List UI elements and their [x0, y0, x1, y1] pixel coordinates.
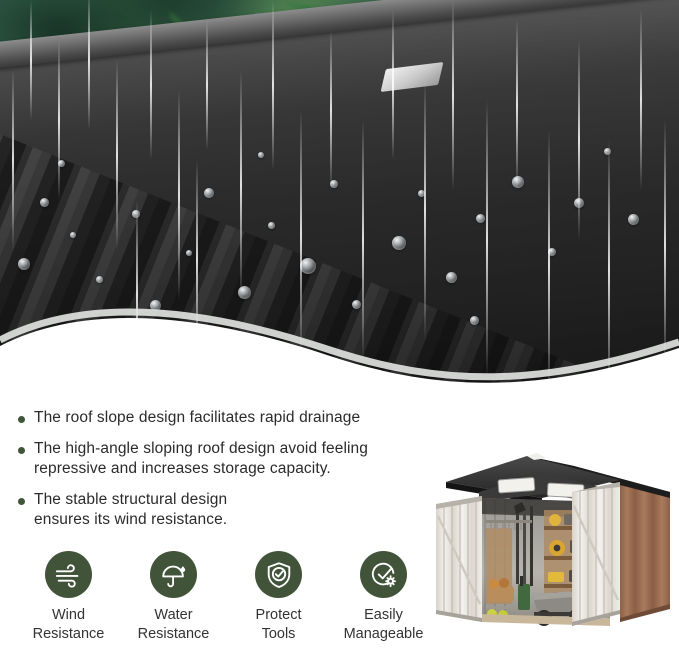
rain-streak: [516, 20, 518, 190]
interior-shelf: [486, 606, 516, 609]
bullet-text: The roof slope design facilitates rapid …: [34, 408, 360, 428]
rain-streak: [178, 90, 180, 300]
water-droplet: [392, 236, 406, 250]
umbrella-rain-icon: [159, 560, 189, 590]
rain-streak: [206, 20, 208, 150]
feature-icon-badge: [360, 551, 407, 598]
water-droplet: [268, 222, 275, 229]
rain-streak: [12, 70, 14, 250]
feature-icon-badge: [255, 551, 302, 598]
water-droplet: [258, 152, 264, 158]
product-shed-photo: [424, 436, 679, 636]
bullet-dot-icon: [18, 447, 25, 454]
bullet-text: The stable structural design ensures its…: [34, 490, 284, 530]
water-droplet: [70, 232, 76, 238]
rain-streak: [578, 40, 580, 240]
list-item: The high-angle sloping roof design avoid…: [18, 439, 438, 479]
shield-check-icon: [264, 560, 294, 590]
feature-label: Wind Resistance: [33, 606, 105, 644]
feature-label: Protect Tools: [256, 606, 302, 644]
interior-tool: [530, 506, 533, 586]
rain-streak: [88, 0, 90, 130]
bullet-dot-icon: [18, 416, 25, 423]
rain-streak: [452, 0, 454, 190]
water-droplet: [300, 258, 316, 274]
rain-streak: [330, 30, 332, 190]
feature-label: Easily Manageable: [344, 606, 424, 644]
feature-bullet-list: The roof slope design facilitates rapid …: [18, 408, 438, 541]
wave-divider: [0, 282, 679, 410]
bullet-text: The high-angle sloping roof design avoid…: [34, 439, 438, 479]
water-droplet: [186, 250, 192, 256]
bullet-dot-icon: [18, 498, 25, 505]
interior-tool: [548, 572, 564, 582]
list-item: The stable structural design ensures its…: [18, 490, 438, 530]
water-droplet: [18, 258, 30, 270]
product-feature-panel: The roof slope design facilitates rapid …: [0, 0, 679, 649]
rain-streak: [150, 10, 152, 160]
feature-label: Water Resistance: [138, 606, 210, 644]
feature-water-resistance: Water Resistance: [121, 551, 226, 644]
rain-streak: [272, 0, 274, 170]
shed-illustration: [424, 436, 679, 636]
water-droplet: [476, 214, 485, 223]
rain-streak: [640, 10, 642, 190]
rain-streak: [240, 70, 242, 300]
feature-wind-resistance: Wind Resistance: [16, 551, 121, 644]
roof-vent: [498, 477, 535, 492]
list-item: The roof slope design facilitates rapid …: [18, 408, 438, 428]
feature-easily-manageable: Easily Manageable: [331, 551, 436, 644]
interior-tool: [549, 514, 561, 526]
shed-side-wall: [620, 480, 670, 622]
interior-item: [518, 584, 530, 610]
rain-streak: [58, 40, 60, 200]
feature-icon-row: Wind Resistance Water Resistance Pro: [16, 551, 436, 644]
rain-streak: [116, 60, 118, 250]
interior-tool: [523, 508, 526, 584]
rain-streak: [30, 0, 32, 120]
check-gear-icon: [369, 560, 399, 590]
tool-rail: [486, 520, 532, 523]
water-droplet: [512, 176, 524, 188]
rain-roof-photo: [0, 0, 679, 410]
wind-icon: [54, 560, 84, 590]
water-droplet: [204, 188, 214, 198]
feature-icon-badge: [45, 551, 92, 598]
feature-protect-tools: Protect Tools: [226, 551, 331, 644]
water-droplet: [628, 214, 639, 225]
rain-streak: [392, 10, 394, 160]
feature-icon-badge: [150, 551, 197, 598]
water-droplet: [40, 198, 49, 207]
interior-tool: [516, 506, 519, 584]
